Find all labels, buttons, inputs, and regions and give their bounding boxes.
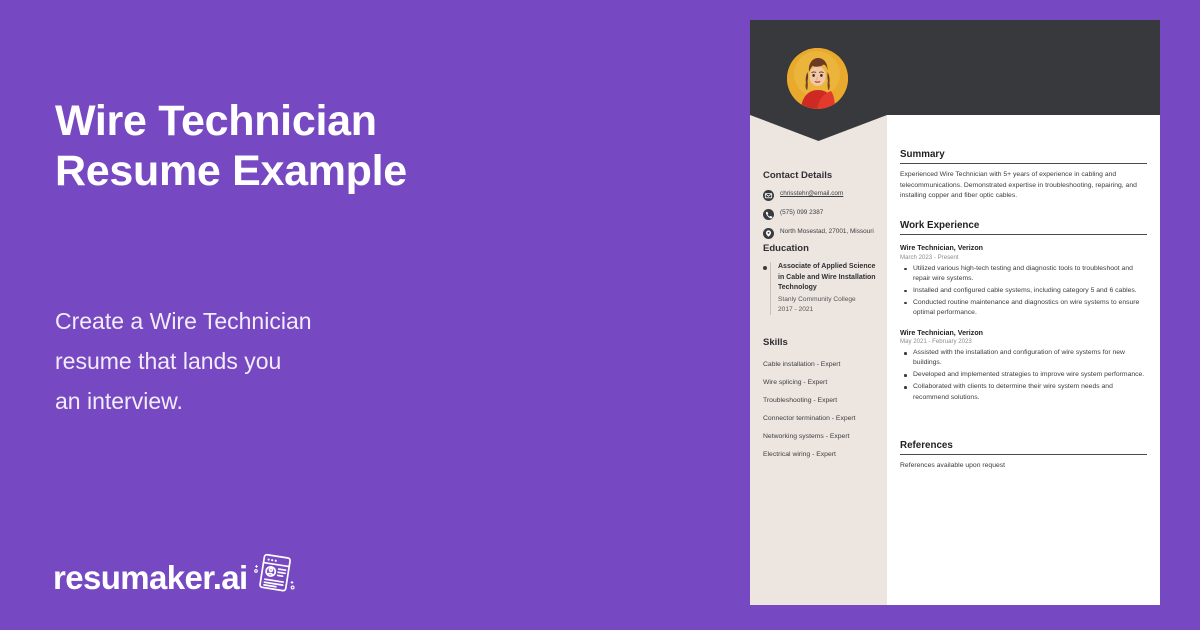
- location-pin-icon: [763, 228, 774, 239]
- references-text: References available upon request: [900, 461, 1147, 472]
- job-bullet: Developed and implemented strategies to …: [900, 370, 1147, 380]
- page-title: Wire Technician Resume Example: [55, 96, 675, 196]
- job-bullet: Utilized various high-tech testing and d…: [900, 264, 1147, 285]
- contact-email-text[interactable]: chrisstehr@email.com: [780, 189, 843, 198]
- contact-details-section: Contact Details chrisstehr@email.com (57…: [763, 170, 879, 246]
- phone-icon: [763, 209, 774, 220]
- work-experience-section: Work Experience Wire Technician, Verizon…: [900, 220, 1147, 405]
- summary-heading: Summary: [900, 149, 1147, 164]
- job-bullet: Installed and configured cable systems, …: [900, 286, 1147, 296]
- resume-preview-card[interactable]: Chris Stehr Wire Technician Contact Deta…: [750, 20, 1160, 605]
- education-degree: Associate of Applied Science in Cable an…: [778, 262, 879, 294]
- skill-item: Cable installation - Expert: [763, 360, 879, 370]
- references-section: References References available upon req…: [900, 440, 1147, 472]
- education-dates: 2017 - 2021: [778, 305, 879, 315]
- work-experience-heading: Work Experience: [900, 220, 1147, 235]
- skill-item: Connector termination - Expert: [763, 414, 879, 424]
- contact-heading: Contact Details: [763, 170, 879, 181]
- contact-location-text: North Mosestad, 27001, Missouri: [780, 227, 874, 236]
- job-entry: Wire Technician, Verizon March 2023 - Pr…: [900, 244, 1147, 319]
- summary-section: Summary Experienced Wire Technician with…: [900, 149, 1147, 202]
- education-item: Associate of Applied Science in Cable an…: [763, 262, 879, 315]
- logo-wordmark: resumaker.ai: [53, 561, 248, 594]
- job-bullet: Collaborated with clients to determine t…: [900, 382, 1147, 403]
- envelope-icon: [763, 190, 774, 201]
- contact-item-phone[interactable]: (575) 099 2387: [763, 208, 879, 220]
- skills-heading: Skills: [763, 337, 879, 348]
- promo-subtitle: Create a Wire Technician resume that lan…: [55, 301, 475, 421]
- job-title: Wire Technician, Verizon: [900, 244, 1147, 252]
- job-entry: Wire Technician, Verizon May 2021 - Febr…: [900, 329, 1147, 404]
- promo-panel: Wire Technician Resume Example Create a …: [0, 0, 750, 630]
- resume-document-icon: [251, 550, 297, 596]
- job-bullet-list: Utilized various high-tech testing and d…: [900, 264, 1147, 319]
- skill-item: Troubleshooting - Expert: [763, 396, 879, 406]
- job-bullet: Conducted routine maintenance and diagno…: [900, 298, 1147, 319]
- job-bullet-list: Assisted with the installation and confi…: [900, 348, 1147, 403]
- job-dates: March 2023 - Present: [900, 254, 1147, 261]
- job-dates: May 2021 - February 2023: [900, 338, 1147, 345]
- references-heading: References: [900, 440, 1147, 455]
- summary-text: Experienced Wire Technician with 5+ year…: [900, 170, 1147, 202]
- skill-item: Networking systems - Expert: [763, 432, 879, 442]
- skills-section: Skills Cable installation - Expert Wire …: [763, 337, 879, 468]
- bullet-dot-icon: [763, 266, 767, 270]
- education-heading: Education: [763, 243, 879, 254]
- contact-item-location: North Mosestad, 27001, Missouri: [763, 227, 879, 239]
- resumaker-logo[interactable]: resumaker.ai: [53, 548, 297, 594]
- contact-phone-text: (575) 099 2387: [780, 208, 823, 217]
- education-section: Education Associate of Applied Science i…: [763, 243, 879, 315]
- avatar: [787, 48, 848, 109]
- job-bullet: Assisted with the installation and confi…: [900, 348, 1147, 369]
- contact-item-email[interactable]: chrisstehr@email.com: [763, 189, 879, 201]
- job-title: Wire Technician, Verizon: [900, 329, 1147, 337]
- skill-item: Wire splicing - Expert: [763, 378, 879, 388]
- education-school: Stanly Community College: [778, 295, 879, 305]
- skill-item: Electrical wiring - Expert: [763, 450, 879, 460]
